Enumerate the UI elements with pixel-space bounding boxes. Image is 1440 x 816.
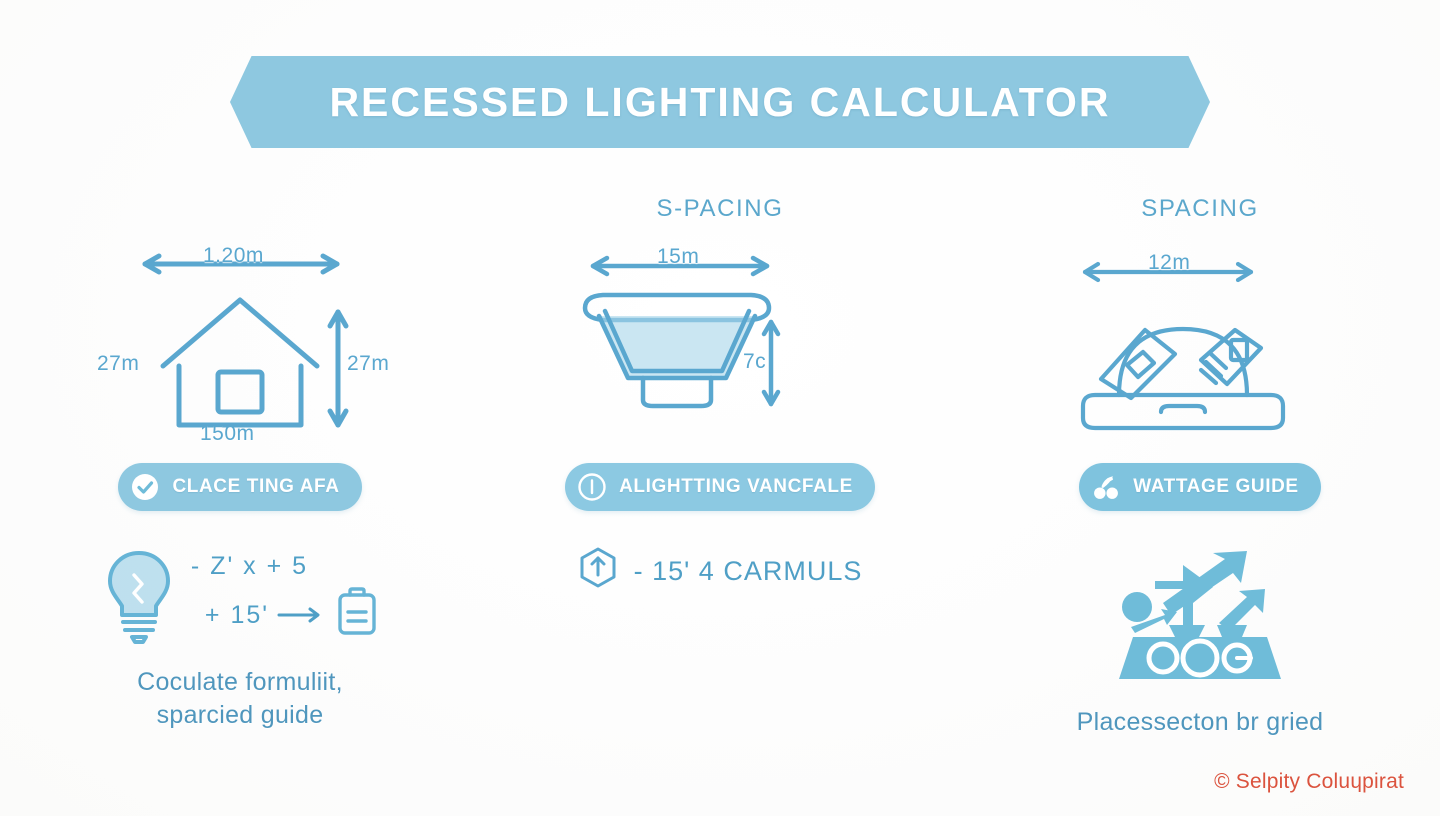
pill-label: CLACE TING AFA: [172, 477, 339, 497]
dome-diagram: 12m: [1035, 232, 1365, 437]
house-diagram: 1.20m 27m 27m 150m: [75, 232, 405, 437]
fixture-dim-top: 15m: [657, 245, 699, 269]
column-room-dimensions: 1.20m 27m 27m 150m CLACE TING AFA: [0, 186, 480, 739]
fixture-dim-right: 7c: [743, 350, 766, 374]
title-banner-wrapper: RECESSED LIGHTING CALCULATOR: [0, 56, 1440, 148]
column-1-bottom: - Z' x + 5 + 15': [75, 545, 405, 732]
column-spacing-wattage: SPACING: [960, 186, 1440, 739]
dome-fixture-icon: [1035, 232, 1365, 437]
house-dim-top: 1.20m: [203, 244, 264, 268]
fixture-diagram: 15m 7c: [555, 232, 885, 437]
lightbulb-icon: [101, 545, 177, 650]
infographic-page: RECESSED LIGHTING CALCULATOR: [0, 0, 1440, 816]
column-3-caption: Placessecton br gried: [1077, 706, 1324, 739]
recessed-fixture-icon: [555, 232, 885, 437]
pill-alightting-vancfale[interactable]: ALIGHTTING VANCFALE: [565, 463, 875, 511]
columns-container: 1.20m 27m 27m 150m CLACE TING AFA: [0, 186, 1440, 739]
bulb-cluster-icon: [1091, 472, 1121, 502]
formula-line-1: - Z' x + 5: [191, 552, 308, 581]
hexagon-text-row: - 15' 4 CARMULS: [578, 545, 863, 598]
pill-label: WATTAGE GUIDE: [1133, 477, 1298, 497]
column-2-text: - 15' 4 CARMULS: [634, 556, 863, 587]
formula-column: - Z' x + 5 + 15': [191, 552, 379, 644]
column-2-bottom: - 15' 4 CARMULS: [555, 545, 885, 598]
info-circle-icon: [577, 472, 607, 502]
clipboard-icon: [335, 587, 379, 644]
column-1-caption: Coculate formuliit, sparcied guide: [90, 666, 390, 732]
page-title: RECESSED LIGHTING CALCULATOR: [329, 79, 1110, 126]
house-dim-bottom: 150m: [200, 422, 255, 446]
column-3-bottom: Placessecton br gried: [1035, 545, 1365, 739]
title-banner: RECESSED LIGHTING CALCULATOR: [230, 56, 1210, 148]
column-spacing-fixture: S-PACING: [480, 186, 960, 739]
column-2-heading: S-PACING: [656, 186, 783, 232]
growth-arrows-icon: [1095, 545, 1305, 690]
formula-line-2-row: + 15': [191, 587, 379, 644]
formula-line-2: + 15': [205, 601, 269, 630]
house-dim-left: 27m: [97, 352, 139, 376]
formula-row: - Z' x + 5 + 15': [75, 545, 405, 650]
dome-dim-top: 12m: [1148, 251, 1190, 275]
pill-clace-ting-afa[interactable]: CLACE TING AFA: [118, 463, 361, 511]
column-3-heading: SPACING: [1141, 186, 1258, 232]
arrow-right-icon: [277, 606, 327, 624]
pill-wattage-guide[interactable]: WATTAGE GUIDE: [1079, 463, 1320, 511]
check-circle-icon: [130, 472, 160, 502]
copyright-footer: © Selpity Coluɥpirat: [1214, 770, 1404, 794]
growth-icon-row: [1035, 545, 1365, 690]
pill-label: ALIGHTTING VANCFALE: [619, 477, 853, 497]
house-dim-right: 27m: [347, 352, 389, 376]
hexagon-arrow-icon: [578, 545, 618, 598]
